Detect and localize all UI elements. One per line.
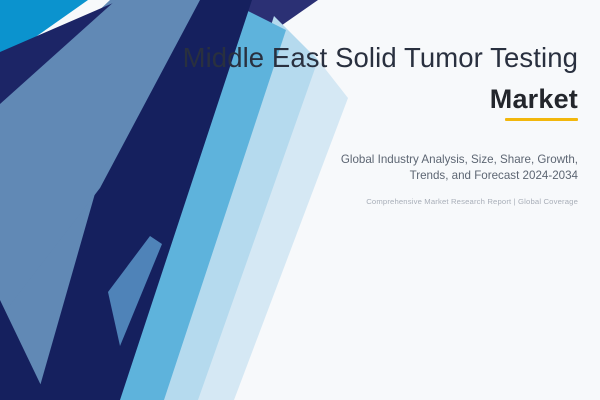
cover-tagline: Comprehensive Market Research Report | G… bbox=[0, 197, 578, 206]
cover-subtitle-line-2: Trends, and Forecast 2024-2034 bbox=[0, 168, 578, 184]
title-accent-rule bbox=[505, 118, 578, 121]
page-title: Middle East Solid Tumor Testing bbox=[0, 42, 578, 74]
cover-text-block: Middle East Solid Tumor Testing Market G… bbox=[0, 0, 600, 400]
cover-subtitle: Global Industry Analysis, Size, Share, G… bbox=[0, 152, 578, 183]
cover-subtitle-line-1: Global Industry Analysis, Size, Share, G… bbox=[0, 152, 578, 168]
report-cover: Middle East Solid Tumor Testing Market G… bbox=[0, 0, 600, 400]
page-title-accent: Market bbox=[0, 84, 578, 115]
